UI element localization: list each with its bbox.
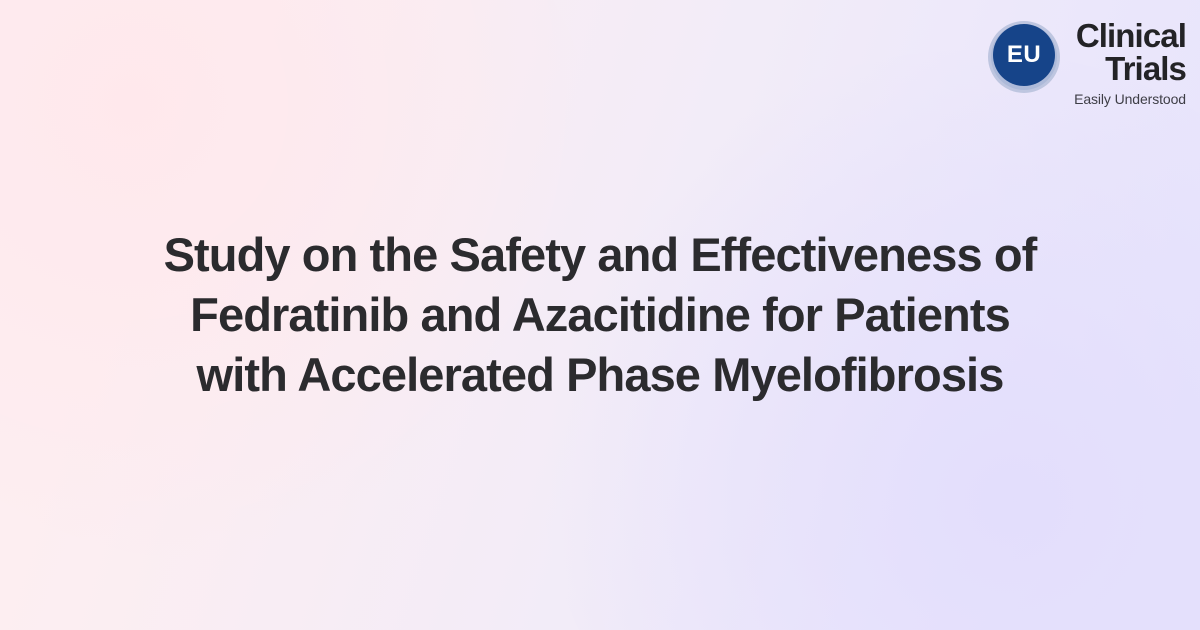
poster-canvas: EU Clinical Trials Easily Understood Stu… [0,0,1200,630]
title-container: Study on the Safety and Effectiveness of… [0,0,1200,630]
page-title: Study on the Safety and Effectiveness of… [150,225,1050,405]
